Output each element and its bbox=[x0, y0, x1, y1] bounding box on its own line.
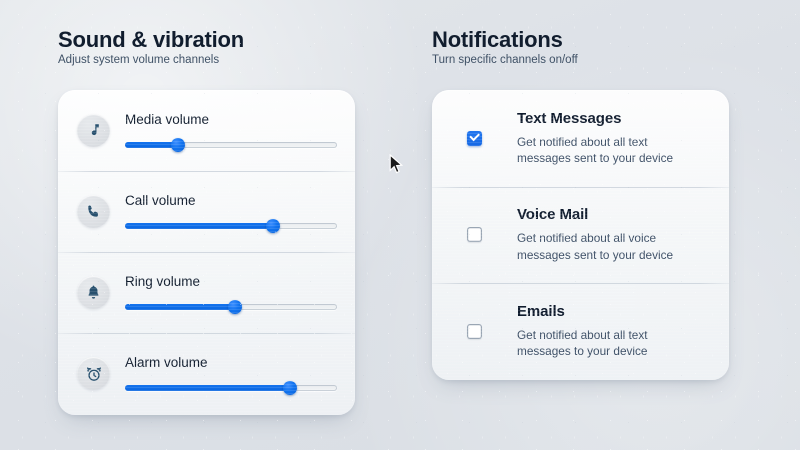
notifications-panel-title: Notifications bbox=[432, 27, 563, 53]
slider-row-ring-volume[interactable]: Ring volume bbox=[58, 252, 355, 333]
checkbox-emails[interactable] bbox=[467, 324, 482, 339]
volume-sliders-card: Media volume Call volume bbox=[58, 90, 355, 415]
bell-icon bbox=[77, 276, 110, 309]
notification-title: Text Messages bbox=[517, 110, 709, 127]
slider-fill bbox=[125, 385, 290, 391]
slider-fill bbox=[125, 223, 273, 229]
notification-title: Emails bbox=[517, 303, 709, 320]
slider-body: Alarm volume bbox=[125, 353, 337, 395]
call-volume-slider[interactable] bbox=[125, 219, 337, 233]
mouse-arrow-cursor bbox=[389, 154, 405, 176]
slider-label: Call volume bbox=[125, 193, 337, 208]
notification-row-voice-mail[interactable]: Voice Mail Get notified about all voice … bbox=[432, 187, 729, 284]
slider-label: Media volume bbox=[125, 112, 337, 127]
notification-body: Text Messages Get notified about all tex… bbox=[517, 110, 709, 167]
notification-row-emails[interactable]: Emails Get notified about all text messa… bbox=[432, 283, 729, 380]
slider-label: Ring volume bbox=[125, 274, 337, 289]
alarm-clock-icon bbox=[77, 357, 110, 390]
slider-thumb[interactable] bbox=[266, 219, 280, 233]
settings-screen: Sound & vibration Adjust system volume c… bbox=[0, 0, 800, 450]
slider-thumb[interactable] bbox=[283, 381, 297, 395]
alarm-volume-slider[interactable] bbox=[125, 381, 337, 395]
sound-panel-subtitle: Adjust system volume channels bbox=[58, 54, 219, 66]
sound-panel-title: Sound & vibration bbox=[58, 27, 244, 53]
notification-body: Emails Get notified about all text messa… bbox=[517, 303, 709, 360]
notification-description: Get notified about all voice messages se… bbox=[517, 230, 689, 263]
music-note-icon bbox=[77, 114, 110, 147]
slider-body: Ring volume bbox=[125, 272, 337, 314]
notification-channels-card: Text Messages Get notified about all tex… bbox=[432, 90, 729, 380]
slider-row-media-volume[interactable]: Media volume bbox=[58, 90, 355, 171]
slider-body: Media volume bbox=[125, 110, 337, 152]
ring-volume-slider[interactable] bbox=[125, 300, 337, 314]
slider-row-call-volume[interactable]: Call volume bbox=[58, 171, 355, 252]
checkbox-text-messages[interactable] bbox=[467, 131, 482, 146]
slider-row-alarm-volume[interactable]: Alarm volume bbox=[58, 333, 355, 414]
slider-fill bbox=[125, 304, 235, 310]
notifications-panel-subtitle: Turn specific channels on/off bbox=[432, 54, 578, 66]
slider-body: Call volume bbox=[125, 191, 337, 233]
checkbox-voice-mail[interactable] bbox=[467, 227, 482, 242]
notification-description: Get notified about all text messages sen… bbox=[517, 134, 689, 167]
slider-label: Alarm volume bbox=[125, 355, 337, 370]
slider-thumb[interactable] bbox=[228, 300, 242, 314]
slider-thumb[interactable] bbox=[171, 138, 185, 152]
notification-row-text-messages[interactable]: Text Messages Get notified about all tex… bbox=[432, 90, 729, 187]
phone-icon bbox=[77, 195, 110, 228]
media-volume-slider[interactable] bbox=[125, 138, 337, 152]
notification-description: Get notified about all text messages to … bbox=[517, 327, 689, 360]
notification-body: Voice Mail Get notified about all voice … bbox=[517, 206, 709, 263]
notification-title: Voice Mail bbox=[517, 206, 709, 223]
